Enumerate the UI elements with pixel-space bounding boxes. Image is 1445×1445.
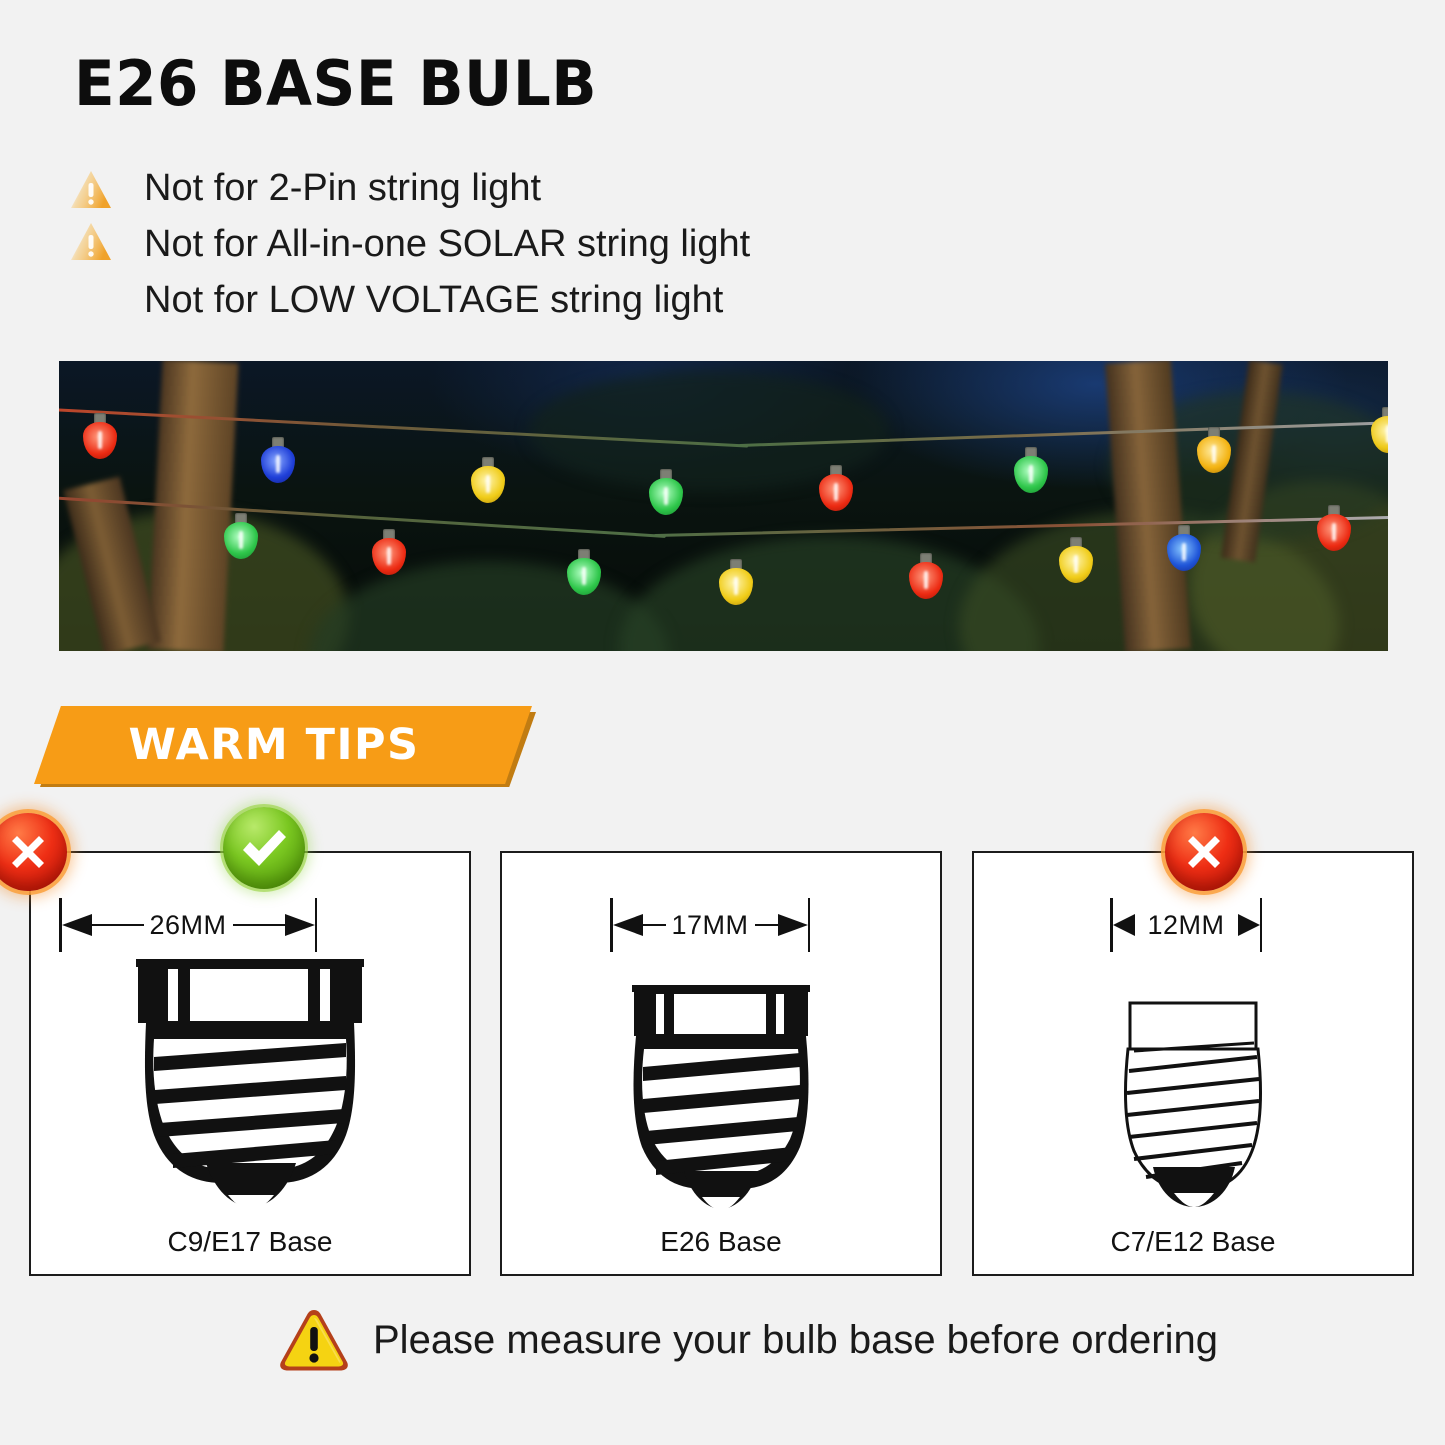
list-item-label: Not for LOW VOLTAGE string light [144,272,750,328]
arrow-left-icon [613,914,643,936]
dimension-label: 26MM [144,910,233,941]
dimension-label: 12MM [1135,910,1238,941]
warning-list: Not for 2-Pin string light Not for All-i… [68,160,1068,330]
light-bulb [261,437,295,483]
base-label: E26 Base [502,1226,940,1258]
dimension-tick [315,898,318,952]
bulb-base-card-c9-e17: 26MM C9/E17 Base [29,851,471,1276]
dimension-tick [1260,898,1263,952]
light-bulb [1197,427,1231,473]
light-bulb [1167,525,1201,571]
footer-note-label: Please measure your bulb base before ord… [351,1318,1218,1363]
warning-triangle-icon [68,220,114,264]
light-bulb [567,549,601,595]
light-bulb [909,553,943,599]
arrow-right-icon [1238,914,1260,936]
light-bulb [83,413,117,459]
base-label: C7/E12 Base [974,1226,1412,1258]
light-bulb [649,469,683,515]
exclamation-triangle-icon [277,1306,351,1374]
bulb-base-card-e26: 17MM E26 Base [500,851,942,1276]
light-bulb [471,457,505,503]
list-item: Not for 2-Pin string light [68,160,1068,216]
dimension-line [755,924,778,927]
x-mark-icon [0,813,67,891]
light-bulb [224,513,258,559]
bulb-base-drawing [626,983,816,1211]
bulb-base-drawing [1120,1001,1266,1209]
dimension-tick [808,898,811,952]
list-item: Not for All-in-one SOLAR string light No… [68,216,1068,330]
light-bulb [1059,537,1093,583]
dimension-line [233,924,285,927]
arrow-left-icon [1113,914,1135,936]
dimension-indicator: 17MM [610,897,810,953]
arrow-right-icon [285,914,315,936]
dimension-line [643,924,666,927]
warning-triangle-icon [68,168,114,212]
bulb-base-drawing [128,957,372,1213]
dimension-label: 17MM [666,910,755,941]
dimension-indicator: 26MM [59,897,317,953]
list-item-label: Not for All-in-one SOLAR string light [144,216,750,272]
list-item-label: Not for 2-Pin string light [144,160,541,216]
light-bulb [1371,407,1388,453]
dimension-line [92,924,144,927]
light-bulb [372,529,406,575]
arrow-left-icon [62,914,92,936]
check-mark-icon [223,807,305,889]
base-label: C9/E17 Base [31,1226,469,1258]
light-bulb [1317,505,1351,551]
page-title: E26 BASE BULB [74,47,597,120]
light-bulb [1014,447,1048,493]
dimension-indicator: 12MM [1110,897,1262,953]
x-mark-icon [1165,813,1243,891]
warm-tips-label: WARM TIPS [34,706,532,784]
light-bulb [719,559,753,605]
warm-tips-banner: WARM TIPS [34,706,532,784]
bulb-base-card-c7-e12: 12MM C7/E12 Base [972,851,1414,1276]
light-bulb [819,465,853,511]
arrow-right-icon [778,914,808,936]
footer-note: Please measure your bulb base before ord… [277,1306,1218,1374]
string-lights-night-photo [59,361,1388,651]
